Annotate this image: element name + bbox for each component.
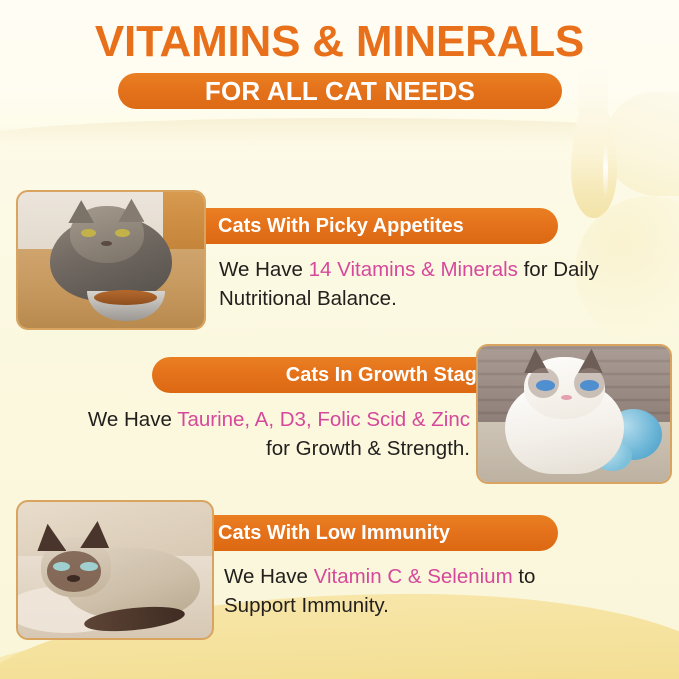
oil-droplet-icon (571, 96, 617, 218)
photo-tabby-cat-eating (16, 190, 206, 330)
vitamins-minerals-poster: VITAMINS & MINERALS FOR ALL CAT NEEDS Ca… (0, 0, 679, 679)
body-highlight: Vitamin C & Selenium (314, 565, 513, 588)
body-lead: We Have (88, 408, 177, 431)
oil-pool-shape (604, 92, 679, 196)
body-line2: Nutritional Balance. (219, 287, 397, 310)
photo-artwork (478, 346, 670, 482)
header-crease-curve (0, 118, 679, 158)
body-text-growth-stage: We Have Taurine, A, D3, Folic Scid & Zin… (20, 405, 470, 463)
body-text-picky-appetites: We Have 14 Vitamins & Minerals for Daily… (219, 255, 669, 313)
body-text-low-immunity: We Have Vitamin C & Selenium to Support … (224, 562, 664, 620)
body-line2: for Growth & Strength. (266, 437, 470, 460)
pill-cats-with-low-immunity: Cats With Low Immunity (186, 515, 558, 551)
body-lead: We Have (219, 258, 309, 281)
subtitle-label: FOR ALL CAT NEEDS (205, 76, 475, 106)
photo-siamese-cat (16, 500, 214, 640)
subtitle-banner: FOR ALL CAT NEEDS (118, 73, 562, 109)
photo-artwork (18, 502, 212, 638)
page-title: VITAMINS & MINERALS (0, 17, 679, 67)
pill-label: Cats In Growth Stage (286, 363, 488, 387)
body-highlight: Taurine, A, D3, Folic Scid & Zinc (177, 408, 470, 431)
body-highlight: 14 Vitamins & Minerals (309, 258, 518, 281)
oil-drip-neck (578, 62, 608, 132)
pill-label: Cats With Low Immunity (218, 521, 450, 545)
photo-artwork (18, 192, 204, 328)
pill-label: Cats With Picky Appetites (218, 214, 464, 238)
pill-cats-in-growth-stage: Cats In Growth Stage (152, 357, 524, 393)
body-lead: We Have (224, 565, 314, 588)
photo-ragdoll-kitten (476, 344, 672, 484)
body-tail: to (513, 565, 536, 588)
body-tail: for Daily (518, 258, 599, 281)
body-line2: Support Immunity. (224, 594, 389, 617)
pill-cats-with-picky-appetites: Cats With Picky Appetites (186, 208, 558, 244)
